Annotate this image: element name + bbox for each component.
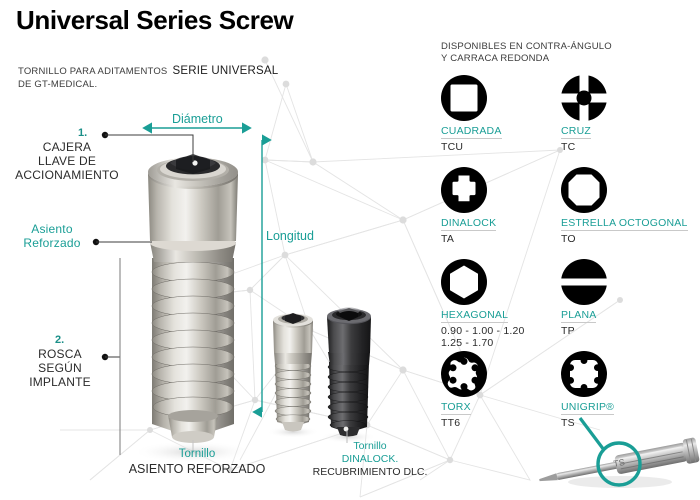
intro-line1-plain: TORNILLO PARA ADITAMENTOS — [18, 66, 167, 77]
driver-code: TP — [561, 325, 681, 337]
driver-name: TORX — [441, 401, 471, 415]
callout-asiento-line1: Asiento — [6, 222, 98, 236]
driver-code: TO — [561, 233, 681, 245]
hexagonal-driver-icon — [441, 259, 487, 305]
driver-code: TT6 — [441, 417, 561, 429]
callout-2-number: 2. — [55, 333, 64, 347]
caption-dina-line3: RECUBRIMIENTO DLC. — [290, 466, 450, 479]
callout-cajera: CAJERA LLAVE DE ACCIONAMIENTO — [8, 140, 126, 182]
driver-name: CRUZ — [561, 125, 591, 139]
callout-asiento-reforzado: Asiento Reforzado — [6, 222, 98, 250]
drivers-header: DISPONIBLES EN CONTRA-ÁNGULO Y CARRACA R… — [441, 41, 612, 65]
callout-cajera-line2: LLAVE DE — [8, 154, 126, 168]
callout-rosca-line2: SEGÚN — [14, 361, 106, 375]
callout-rosca: ROSCA SEGÚN IMPLANTE — [14, 347, 106, 389]
driver-name: DINALOCK — [441, 217, 496, 231]
unigrip-driver-icon — [561, 351, 607, 397]
driver-code: 0.90 - 1.00 - 1.20 1.25 - 1.70 — [441, 325, 561, 349]
driver-code: TA — [441, 233, 561, 245]
caption-dina-line1: Tornillo — [290, 440, 450, 453]
caption-tornillo-asiento-reforzado: Tornillo ASIENTO REFORZADO — [112, 447, 282, 477]
intro-line2: DE GT-MEDICAL. — [18, 78, 278, 91]
driver-name: ESTRELLA OCTOGONAL — [561, 217, 688, 231]
driver-item-plana[interactable]: PLANA TP — [561, 259, 681, 337]
driver-name: CUADRADA — [441, 125, 502, 139]
caption-main-line1: Tornillo — [112, 447, 282, 462]
caption-tornillo-dinalock: Tornillo DINALOCK. RECUBRIMIENTO DLC. — [290, 440, 450, 479]
driver-name: UNIGRIP® — [561, 401, 614, 415]
driver-code: TS — [561, 417, 681, 429]
flat-driver-icon — [561, 259, 607, 305]
page-title: Universal Series Screw — [16, 5, 293, 36]
square-driver-icon — [441, 75, 487, 121]
driver-item-estrella-octogonal[interactable]: ESTRELLA OCTOGONAL TO — [561, 167, 681, 245]
drivers-header-line2: Y CARRACA REDONDA — [441, 53, 612, 65]
length-label: Longitud — [266, 229, 314, 243]
callout-cajera-line1: CAJERA — [8, 140, 126, 154]
callout-1-number: 1. — [78, 126, 87, 140]
driver-item-dinalock[interactable]: DINALOCK TA — [441, 167, 561, 245]
poster-canvas: Universal Series Screw TORNILLO PARA ADI… — [0, 0, 700, 500]
caption-dina-line2: DINALOCK. — [290, 453, 450, 466]
driver-item-hexagonal[interactable]: HEXAGONAL 0.90 - 1.00 - 1.20 1.25 - 1.70 — [441, 259, 561, 349]
driver-code: TC — [561, 141, 681, 153]
driver-code: TCU — [441, 141, 561, 153]
driver-item-torx[interactable]: TORX TT6 — [441, 351, 561, 429]
driver-item-cuadrada[interactable]: CUADRADA TCU — [441, 75, 561, 153]
driver-name: HEXAGONAL — [441, 309, 508, 323]
dinalock-driver-icon — [441, 167, 487, 213]
intro-text: TORNILLO PARA ADITAMENTOSSERIE UNIVERSAL… — [18, 63, 278, 91]
callout-rosca-line1: ROSCA — [14, 347, 106, 361]
diameter-label: Diámetro — [172, 112, 223, 126]
driver-item-unigrip[interactable]: UNIGRIP® TS — [561, 351, 681, 429]
driver-item-cruz[interactable]: CRUZ TC — [561, 75, 681, 153]
drivers-header-line1: DISPONIBLES EN CONTRA-ÁNGULO — [441, 41, 612, 53]
octagonal-star-driver-icon — [561, 167, 607, 213]
intro-line1-strong: SERIE UNIVERSAL — [172, 65, 278, 77]
torx-driver-icon — [441, 351, 487, 397]
cross-driver-icon — [561, 75, 607, 121]
callout-rosca-line3: IMPLANTE — [14, 375, 106, 389]
callout-cajera-line3: ACCIONAMIENTO — [8, 168, 126, 182]
callout-asiento-line2: Reforzado — [6, 236, 98, 250]
caption-main-line2: ASIENTO REFORZADO — [112, 462, 282, 477]
driver-name: PLANA — [561, 309, 596, 323]
